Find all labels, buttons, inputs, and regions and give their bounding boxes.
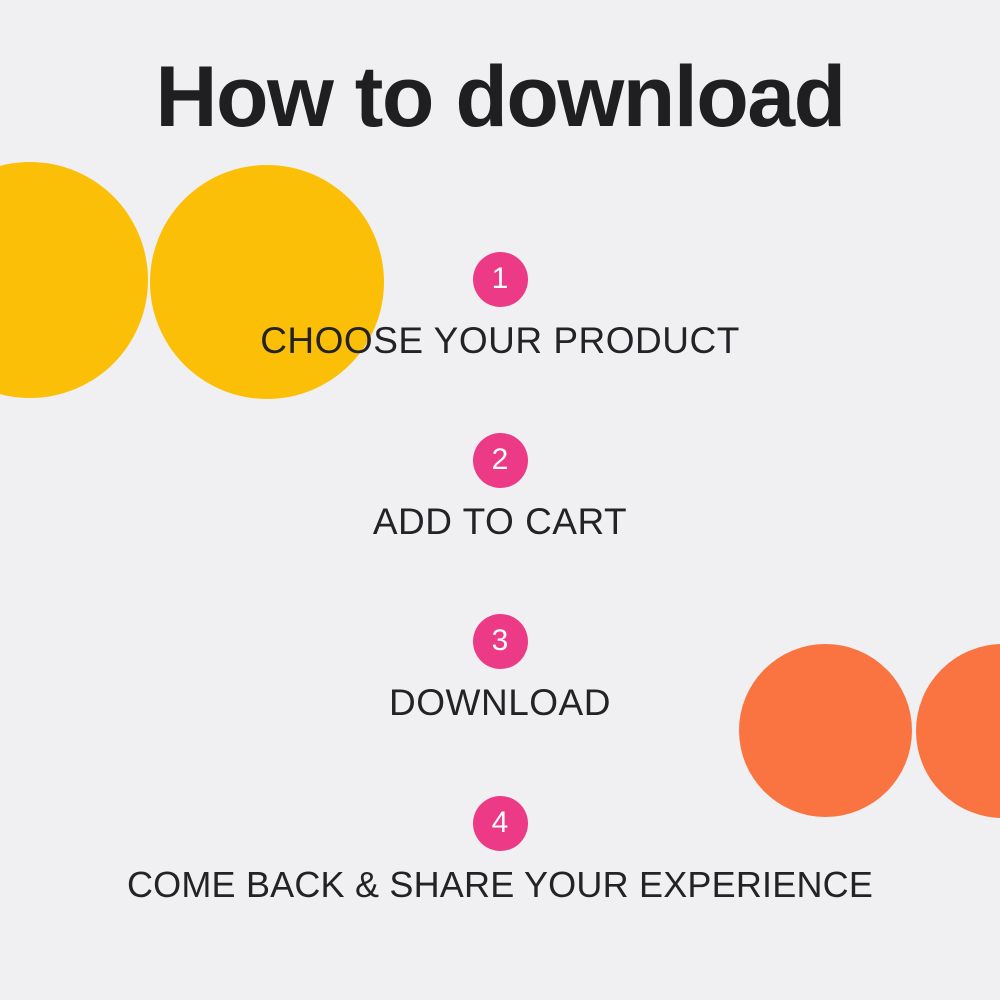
list-item: 3 DOWNLOAD <box>0 614 1000 726</box>
steps-list: 1 CHOOSE YOUR PRODUCT 2 ADD TO CART 3 DO… <box>0 0 1000 1000</box>
step-label: DOWNLOAD <box>0 669 1000 726</box>
poster-canvas: How to download 1 CHOOSE YOUR PRODUCT 2 … <box>0 0 1000 1000</box>
list-item: 4 COME BACK & SHARE YOUR EXPERIENCE <box>0 796 1000 907</box>
step-number-badge: 3 <box>473 614 528 669</box>
step-label: ADD TO CART <box>0 488 1000 545</box>
step-label: CHOOSE YOUR PRODUCT <box>0 307 1000 364</box>
step-label: COME BACK & SHARE YOUR EXPERIENCE <box>0 851 1000 907</box>
step-number-badge: 1 <box>473 252 528 307</box>
step-number-badge: 2 <box>473 433 528 488</box>
list-item: 2 ADD TO CART <box>0 433 1000 545</box>
list-item: 1 CHOOSE YOUR PRODUCT <box>0 252 1000 364</box>
step-number-badge: 4 <box>473 796 528 851</box>
